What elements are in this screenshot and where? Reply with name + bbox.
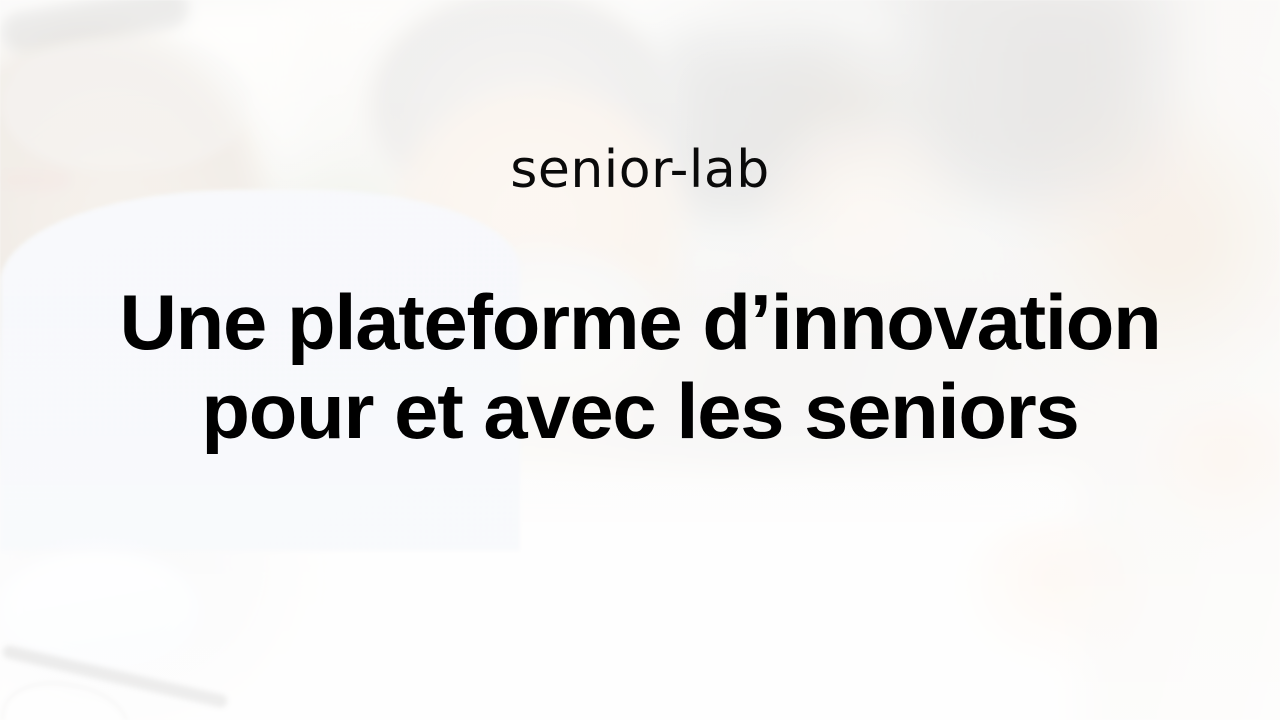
presentation-slide: senior-lab Une plateforme d’innovation p…	[0, 0, 1280, 720]
slide-eyebrow-title: senior-lab	[0, 140, 1280, 200]
headline-line-1: Une plateforme d’innovation	[0, 278, 1280, 367]
slide-content: senior-lab Une plateforme d’innovation p…	[0, 0, 1280, 720]
headline-line-2: pour et avec les seniors	[0, 367, 1280, 456]
partner-logo-bar: ELS La Source. Institut et Haute Ecole d…	[0, 610, 1280, 720]
slide-headline: Une plateforme d’innovation pour et avec…	[0, 278, 1280, 456]
